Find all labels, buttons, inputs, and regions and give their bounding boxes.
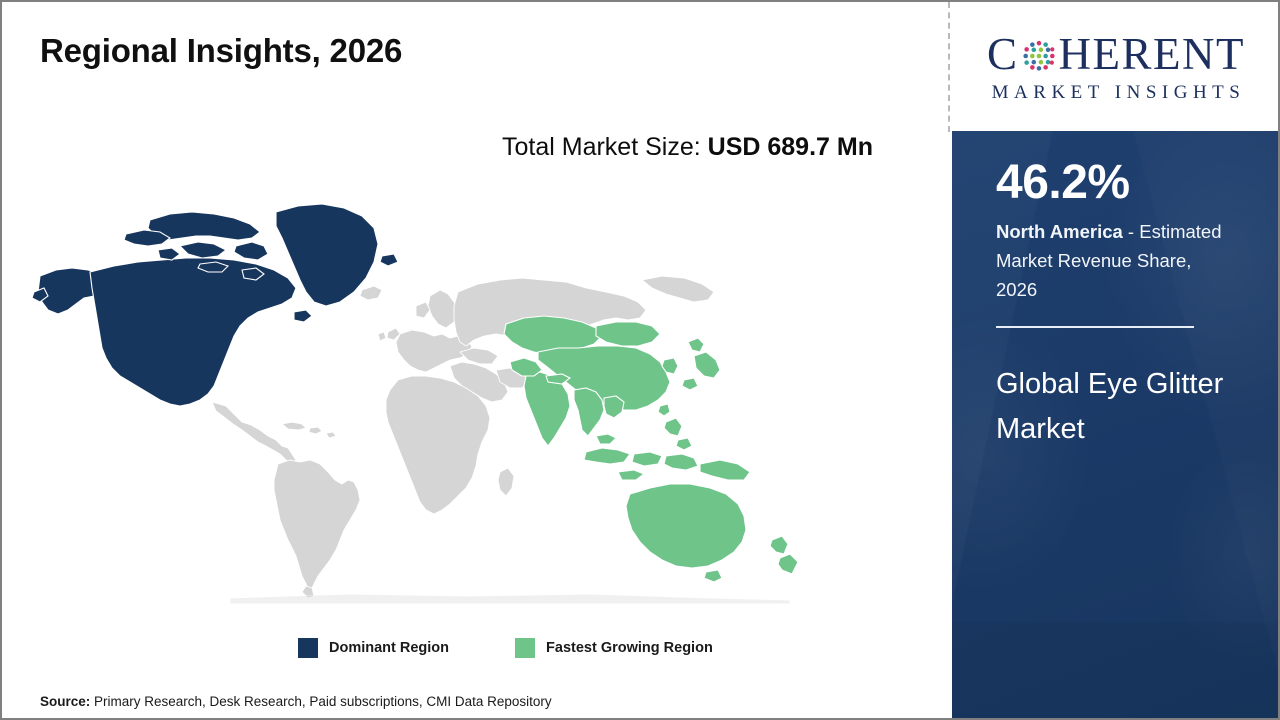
- panel-content: 46.2% North America - Estimated Market R…: [952, 131, 1280, 452]
- logo-subtitle: MARKET INSIGHTS: [966, 83, 1266, 102]
- market-size-label: Total Market Size:: [502, 133, 708, 161]
- stat-panel: 46.2% North America - Estimated Market R…: [952, 131, 1280, 718]
- globe-icon-svg: [1020, 37, 1058, 75]
- legend-label-fastest-growing: Fastest Growing Region: [546, 640, 713, 656]
- legend-item-fastest-growing: Fastest Growing Region: [515, 638, 713, 658]
- stat-value: 46.2%: [996, 157, 1236, 210]
- map-region-north-america: [32, 204, 398, 406]
- stat-region-name: North America: [996, 221, 1123, 242]
- market-size-value: USD 689.7 Mn: [708, 133, 873, 161]
- logo-word-herent: HERENT: [1059, 32, 1245, 77]
- vertical-divider: [948, 2, 950, 132]
- total-market-size: Total Market Size: USD 689.7 Mn: [502, 128, 912, 168]
- panel-divider-rule: [996, 326, 1194, 328]
- source-text: Primary Research, Desk Research, Paid su…: [90, 694, 551, 709]
- logo-letter-c: C: [987, 32, 1019, 77]
- legend-item-dominant: Dominant Region: [298, 638, 449, 658]
- legend-label-dominant: Dominant Region: [329, 640, 449, 656]
- page-title: Regional Insights, 2026: [40, 32, 402, 70]
- globe-icon: [1020, 37, 1058, 75]
- logo-wordmark: C: [966, 32, 1266, 77]
- logo-lockup: C: [966, 32, 1266, 102]
- legend-swatch-dominant: [298, 638, 318, 658]
- world-map-svg: [30, 184, 830, 604]
- regional-insights-infographic: Regional Insights, 2026 Total Market Siz…: [0, 0, 1280, 720]
- map-legend: Dominant Region Fastest Growing Region: [298, 638, 713, 658]
- source-label: Source:: [40, 694, 90, 709]
- left-content-pane: Regional Insights, 2026 Total Market Siz…: [2, 2, 949, 718]
- world-map: [30, 184, 830, 604]
- brand-logo: C: [952, 2, 1280, 131]
- map-region-asia-pacific: [504, 316, 798, 582]
- source-note: Source: Primary Research, Desk Research,…: [40, 694, 552, 709]
- legend-swatch-fastest-growing: [515, 638, 535, 658]
- market-name: Global Eye Glitter Market: [996, 362, 1236, 452]
- stat-caption: North America - Estimated Market Revenue…: [996, 218, 1236, 305]
